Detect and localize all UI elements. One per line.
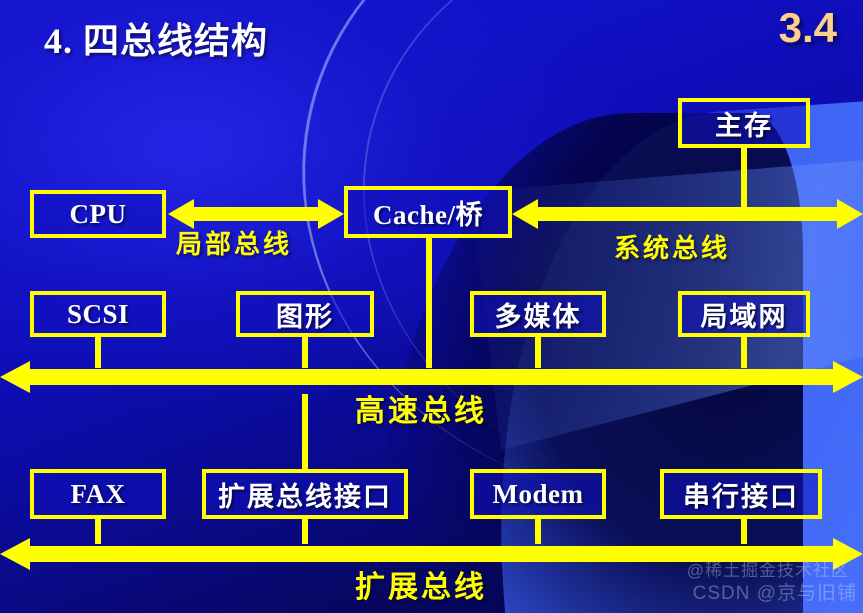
box-fax[interactable]: FAX: [30, 469, 166, 519]
box-expansion-bus-interface[interactable]: 扩展总线接口: [202, 469, 408, 519]
label-system-bus: 系统总线: [614, 228, 730, 265]
box-modem[interactable]: Modem: [470, 469, 606, 519]
box-main-memory[interactable]: 主存: [678, 98, 810, 148]
label-expansion-bus: 扩展总线: [355, 562, 487, 606]
label-high-speed-bus: 高速总线: [355, 386, 487, 430]
connector-cache-to-high-speed-bus: [426, 238, 432, 368]
label-local-bus: 局部总线: [176, 224, 292, 261]
box-serial-interface[interactable]: 串行接口: [660, 469, 822, 519]
connector-expansion-interface-to-high-speed-bus: [302, 394, 308, 469]
box-cpu[interactable]: CPU: [30, 190, 166, 238]
arrow-system-bus: [512, 197, 863, 231]
box-multimedia[interactable]: 多媒体: [470, 291, 606, 337]
page-title: 4. 四总线结构: [44, 12, 268, 64]
box-scsi[interactable]: SCSI: [30, 291, 166, 337]
slide-canvas: 4. 四总线结构 3.4 主存 CPU Cache/桥 局部总线 系统总线 SC…: [0, 0, 863, 613]
box-cache-bridge[interactable]: Cache/桥: [344, 186, 512, 238]
slide-number: 3.4: [779, 4, 837, 52]
box-graphics[interactable]: 图形: [236, 291, 374, 337]
box-lan[interactable]: 局域网: [678, 291, 810, 337]
